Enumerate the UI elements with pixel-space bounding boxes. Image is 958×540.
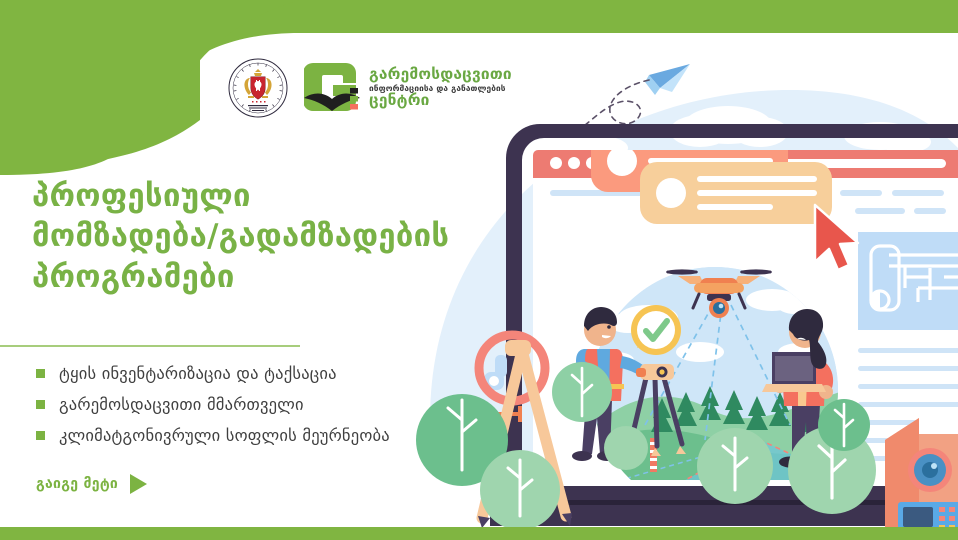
- bullet-square-icon: [36, 431, 45, 440]
- checkmark-badge: [631, 305, 681, 355]
- list-item-label: კლიმატგონივრული სოფლის მეურნეობა: [59, 426, 390, 445]
- title-line-1: პროფესიული: [32, 176, 502, 216]
- eiec-logo: გარემოსდაცვითი ინფორმაციისა და განათლები…: [304, 61, 512, 116]
- play-triangle-icon: [130, 474, 147, 494]
- program-list: ტყის ინვენტარიზაცია და ტაქსაცია გარემოსდ…: [36, 362, 390, 455]
- slide-canvas: გარემოსდაცვითი ინფორმაციისა და განათლები…: [0, 0, 958, 540]
- header-logo-row: გარემოსდაცვითი ინფორმაციისა და განათლები…: [228, 58, 512, 118]
- blueprint-icon: [858, 232, 958, 330]
- list-item-label: გარემოსდაცვითი მმართველი: [59, 395, 304, 414]
- bottom-accent-bar: [0, 527, 958, 540]
- paper-plane-icon: [645, 64, 690, 95]
- title-divider: [0, 345, 300, 347]
- learn-more-label: გაიგე მეტი: [36, 476, 118, 492]
- list-item: გარემოსდაცვითი მმართველი: [36, 393, 390, 415]
- list-item-label: ტყის ინვენტარიზაცია და ტაქსაცია: [59, 364, 337, 383]
- learn-more-button[interactable]: გაიგე მეტი: [36, 474, 147, 494]
- notification-card-yellow: [640, 162, 832, 224]
- list-item: ტყის ინვენტარიზაცია და ტაქსაცია: [36, 362, 390, 384]
- camera-scanner-device: [885, 418, 958, 534]
- title-line-2: მომზადება/გადამზადების: [32, 216, 502, 256]
- georgia-ministry-seal: [228, 58, 288, 118]
- eiec-logo-line3: ცენტრი: [369, 93, 512, 109]
- list-item: კლიმატგონივრული სოფლის მეურნეობა: [36, 424, 390, 446]
- bullet-square-icon: [36, 400, 45, 409]
- eiec-logo-mark: [304, 61, 360, 116]
- page-title: პროფესიული მომზადება/გადამზადების პროგრა…: [32, 176, 502, 297]
- title-line-3: პროგრამები: [32, 257, 502, 297]
- bullet-square-icon: [36, 369, 45, 378]
- eiec-logo-line1: გარემოსდაცვითი: [369, 67, 512, 83]
